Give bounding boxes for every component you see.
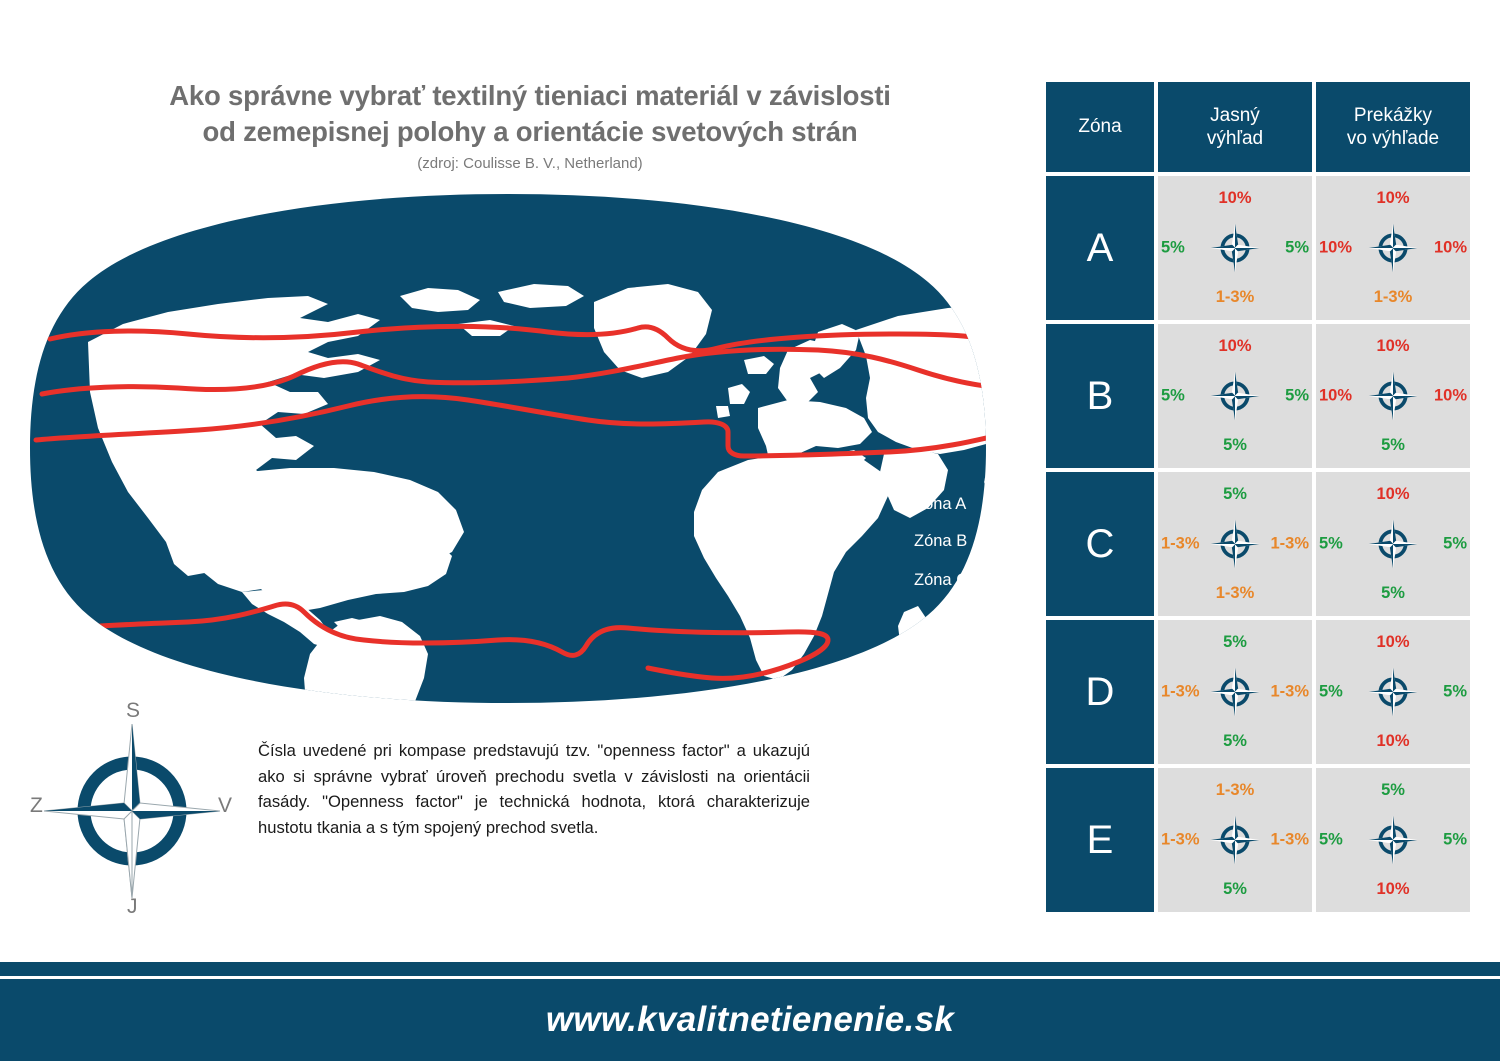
value-south: 5% xyxy=(1381,436,1405,455)
zone-orientation-table: Zóna Jasný výhľad Prekážky vo výhľade A1… xyxy=(1046,82,1470,904)
value-east: 5% xyxy=(1285,387,1309,406)
table-header-obstructed-view: Prekážky vo výhľade xyxy=(1316,82,1470,172)
value-east: 5% xyxy=(1443,535,1467,554)
obstructed-view-cell-c: 10%5%5%5% xyxy=(1316,472,1470,616)
compass-icon xyxy=(1207,664,1263,720)
value-north: 5% xyxy=(1381,781,1405,800)
value-north: 1-3% xyxy=(1216,781,1255,800)
map-zone-label-e: Zóna E xyxy=(828,859,881,878)
compass-icon xyxy=(1207,516,1263,572)
table-row-zone-a: A10%1-3%5%5%10%1-3%10%10% xyxy=(1046,176,1470,320)
value-north: 10% xyxy=(1376,485,1409,504)
value-east: 10% xyxy=(1434,387,1467,406)
value-east: 1-3% xyxy=(1270,535,1309,554)
compass-icon xyxy=(1365,220,1421,276)
compass-icon xyxy=(1365,516,1421,572)
compass-icon xyxy=(1207,368,1263,424)
value-east: 5% xyxy=(1443,683,1467,702)
table-header-clear-view: Jasný výhľad xyxy=(1158,82,1312,172)
value-south: 1-3% xyxy=(1216,584,1255,603)
value-north: 10% xyxy=(1376,337,1409,356)
title-source: (zdroj: Coulisse B. V., Netherland) xyxy=(85,155,975,172)
zone-letter-e: E xyxy=(1046,768,1154,912)
clear-view-cell-d: 5%5%1-3%1-3% xyxy=(1158,620,1312,764)
compass-rose-icon xyxy=(22,700,242,922)
compass-rose-legend: S Z V J xyxy=(22,700,242,922)
compass-icon xyxy=(1207,812,1263,868)
value-south: 1-3% xyxy=(1374,288,1413,307)
value-west: 5% xyxy=(1319,683,1343,702)
world-map: Zóna A Zóna B Zóna C Zóna D Zóna E xyxy=(28,192,988,705)
value-north: 10% xyxy=(1376,189,1409,208)
value-north: 5% xyxy=(1223,485,1247,504)
value-east: 5% xyxy=(1443,831,1467,850)
footer-bar: www.kvalitnetienenie.sk xyxy=(0,979,1500,1061)
obstructed-view-cell-a: 10%1-3%10%10% xyxy=(1316,176,1470,320)
clear-view-cell-e: 1-3%5%1-3%1-3% xyxy=(1158,768,1312,912)
compass-cell-clear-a: 10%1-3%5%5% xyxy=(1158,176,1312,320)
compass-east-label: V xyxy=(218,795,232,816)
compass-cell-obstructed-d: 10%10%5%5% xyxy=(1316,620,1470,764)
clear-view-cell-b: 10%5%5%5% xyxy=(1158,324,1312,468)
page-title: Ako správne vybrať textilný tieniaci mat… xyxy=(85,78,975,150)
table-header-zone: Zóna xyxy=(1046,82,1154,172)
clear-view-cell-c: 5%1-3%1-3%1-3% xyxy=(1158,472,1312,616)
table-row-zone-c: C5%1-3%1-3%1-3%10%5%5%5% xyxy=(1046,472,1470,616)
world-map-svg xyxy=(28,192,988,705)
openness-factor-note: Čísla uvedené pri kompase predstavujú tz… xyxy=(258,738,810,840)
clear-view-cell-a: 10%1-3%5%5% xyxy=(1158,176,1312,320)
value-west: 5% xyxy=(1161,387,1185,406)
value-north: 10% xyxy=(1218,189,1251,208)
zone-letter-d: D xyxy=(1046,620,1154,764)
table-header-row: Zóna Jasný výhľad Prekážky vo výhľade xyxy=(1046,82,1470,172)
value-south: 1-3% xyxy=(1216,288,1255,307)
header-obstructed-line1: Prekážky xyxy=(1354,105,1432,126)
value-west: 1-3% xyxy=(1161,831,1200,850)
map-zone-label-d: Zóna D xyxy=(914,691,968,710)
obstructed-view-cell-d: 10%10%5%5% xyxy=(1316,620,1470,764)
obstructed-view-cell-b: 10%5%10%10% xyxy=(1316,324,1470,468)
value-north: 5% xyxy=(1223,633,1247,652)
value-west: 1-3% xyxy=(1161,535,1200,554)
value-east: 1-3% xyxy=(1270,831,1309,850)
obstructed-view-cell-e: 5%10%5%5% xyxy=(1316,768,1470,912)
value-south: 5% xyxy=(1223,880,1247,899)
compass-icon xyxy=(1365,812,1421,868)
compass-cell-clear-d: 5%5%1-3%1-3% xyxy=(1158,620,1312,764)
compass-cell-clear-c: 5%1-3%1-3%1-3% xyxy=(1158,472,1312,616)
compass-south-label: J xyxy=(127,896,138,917)
value-east: 10% xyxy=(1434,239,1467,258)
compass-cell-obstructed-a: 10%1-3%10%10% xyxy=(1316,176,1470,320)
title-line-1: Ako správne vybrať textilný tieniaci mat… xyxy=(169,80,890,111)
compass-cell-clear-b: 10%5%5%5% xyxy=(1158,324,1312,468)
map-zone-label-c: Zóna C xyxy=(914,571,968,590)
compass-icon xyxy=(1207,220,1263,276)
compass-cell-obstructed-b: 10%5%10%10% xyxy=(1316,324,1470,468)
value-west: 1-3% xyxy=(1161,683,1200,702)
compass-north-label: S xyxy=(126,700,140,721)
compass-west-label: Z xyxy=(30,795,43,816)
value-south: 5% xyxy=(1381,584,1405,603)
compass-icon xyxy=(1365,664,1421,720)
header-obstructed-line2: vo výhľade xyxy=(1347,128,1439,149)
compass-cell-obstructed-e: 5%10%5%5% xyxy=(1316,768,1470,912)
compass-cell-obstructed-c: 10%5%5%5% xyxy=(1316,472,1470,616)
table-row-zone-e: E1-3%5%1-3%1-3%5%10%5%5% xyxy=(1046,768,1470,912)
footer-accent-bar xyxy=(0,962,1500,976)
zone-letter-c: C xyxy=(1046,472,1154,616)
footer-website-url[interactable]: www.kvalitnetienenie.sk xyxy=(0,979,1500,1061)
title-block: Ako správne vybrať textilný tieniaci mat… xyxy=(85,78,975,172)
value-south: 10% xyxy=(1376,732,1409,751)
value-west: 10% xyxy=(1319,387,1352,406)
header-clear-line2: výhľad xyxy=(1207,128,1263,149)
value-north: 10% xyxy=(1218,337,1251,356)
map-zone-label-b: Zóna B xyxy=(914,532,967,551)
title-line-2: od zemepisnej polohy a orientácie svetov… xyxy=(85,114,975,150)
value-south: 5% xyxy=(1223,436,1247,455)
value-west: 5% xyxy=(1319,535,1343,554)
compass-icon xyxy=(1365,368,1421,424)
zone-letter-b: B xyxy=(1046,324,1154,468)
map-zone-label-a: Zóna A xyxy=(914,495,966,514)
zone-letter-a: A xyxy=(1046,176,1154,320)
value-east: 1-3% xyxy=(1270,683,1309,702)
compass-cell-clear-e: 1-3%5%1-3%1-3% xyxy=(1158,768,1312,912)
table-body: A10%1-3%5%5%10%1-3%10%10%B10%5%5%5%10%5%… xyxy=(1046,176,1470,912)
value-west: 10% xyxy=(1319,239,1352,258)
value-south: 5% xyxy=(1223,732,1247,751)
value-west: 5% xyxy=(1319,831,1343,850)
value-west: 5% xyxy=(1161,239,1185,258)
table-row-zone-d: D5%5%1-3%1-3%10%10%5%5% xyxy=(1046,620,1470,764)
value-north: 10% xyxy=(1376,633,1409,652)
header-clear-line1: Jasný xyxy=(1210,105,1260,126)
table-row-zone-b: B10%5%5%5%10%5%10%10% xyxy=(1046,324,1470,468)
value-south: 10% xyxy=(1376,880,1409,899)
value-east: 5% xyxy=(1285,239,1309,258)
